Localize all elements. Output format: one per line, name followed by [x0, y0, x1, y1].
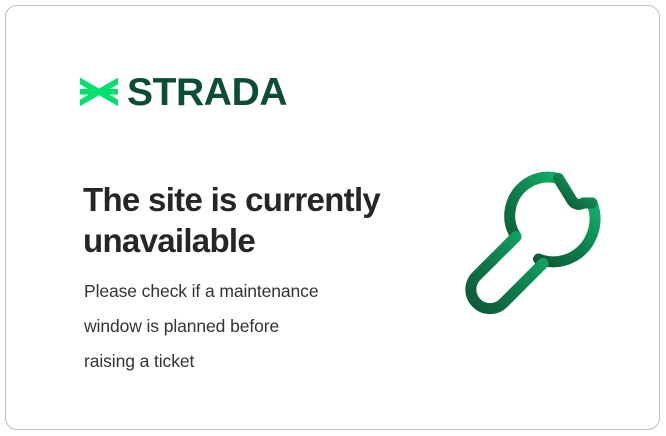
maintenance-card: STRADA The site is currently unavailable…	[5, 5, 660, 430]
page-description: Please check if a maintenance window is …	[84, 274, 394, 379]
brand-lockup: STRADA	[80, 68, 287, 116]
description-line: window is planned before	[84, 309, 394, 344]
brand-wordmark: STRADA	[127, 73, 287, 112]
description-line: raising a ticket	[84, 344, 394, 379]
page-title: The site is currently unavailable	[83, 180, 423, 262]
description-line: Please check if a maintenance	[84, 274, 394, 309]
wrench-icon	[461, 156, 621, 316]
error-page: STRADA The site is currently unavailable…	[0, 0, 666, 436]
strada-asterisk-icon	[80, 71, 118, 113]
